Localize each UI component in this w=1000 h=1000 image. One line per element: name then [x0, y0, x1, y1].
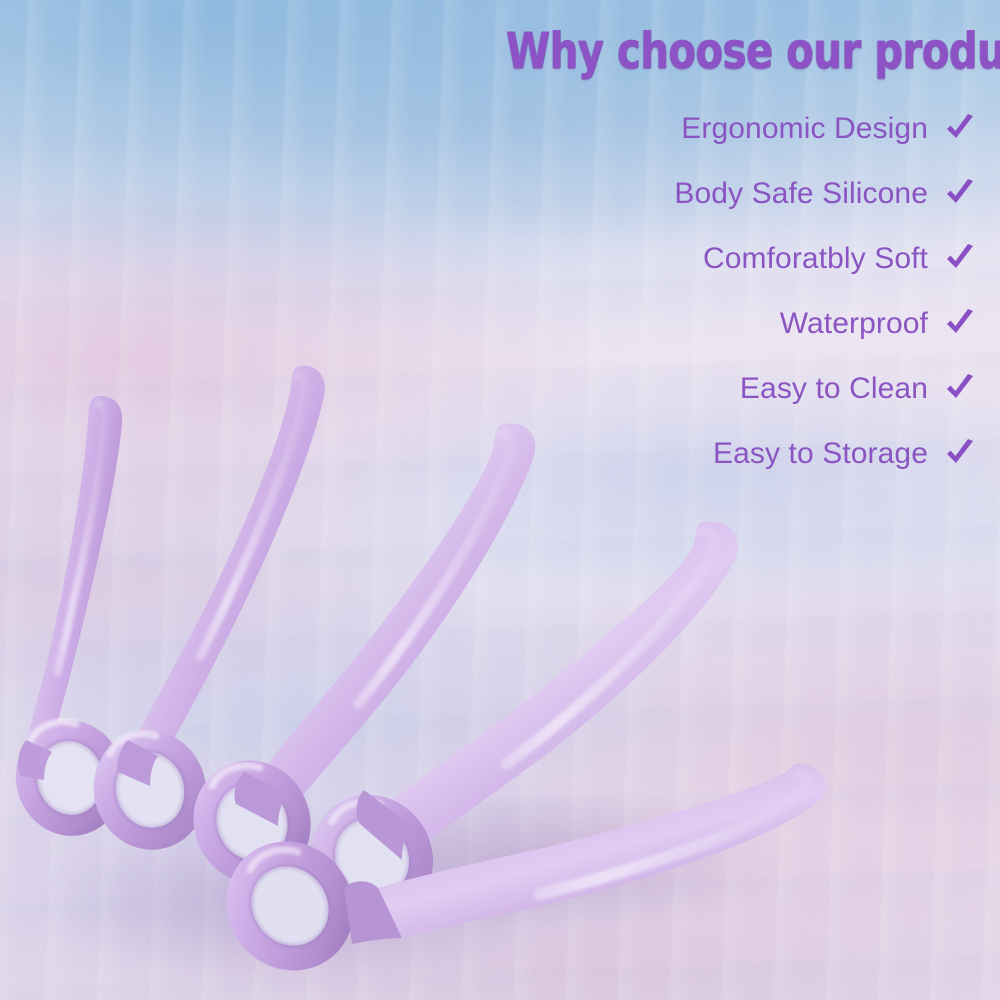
- feature-label: Easy to Storage: [713, 437, 928, 471]
- feature-label: Body Safe Silicone: [674, 177, 928, 211]
- feature-item-ergonomic-design: Ergonomic Design: [566, 96, 986, 161]
- check-icon: [934, 307, 986, 341]
- check-icon: [934, 437, 986, 471]
- feature-item-comforatbly-soft: Comforatbly Soft: [566, 226, 986, 291]
- check-icon: [934, 177, 986, 211]
- check-icon: [934, 112, 986, 146]
- feature-item-waterproof: Waterproof: [566, 291, 986, 356]
- feature-item-body-safe-silicone: Body Safe Silicone: [566, 161, 986, 226]
- feature-item-easy-to-clean: Easy to Clean: [566, 356, 986, 421]
- feature-label: Ergonomic Design: [681, 112, 928, 146]
- product-feature-graphic: Why choose our product Ergonomic Design …: [0, 0, 1000, 1000]
- feature-label: Easy to Clean: [740, 372, 928, 406]
- page-title: Why choose our product: [506, 22, 986, 80]
- check-icon: [934, 372, 986, 406]
- feature-label: Waterproof: [780, 307, 928, 341]
- check-icon: [934, 242, 986, 276]
- feature-label: Comforatbly Soft: [703, 242, 928, 276]
- feature-list: Ergonomic Design Body Safe Silicone Comf…: [566, 96, 986, 486]
- feature-item-easy-to-storage: Easy to Storage: [566, 421, 986, 486]
